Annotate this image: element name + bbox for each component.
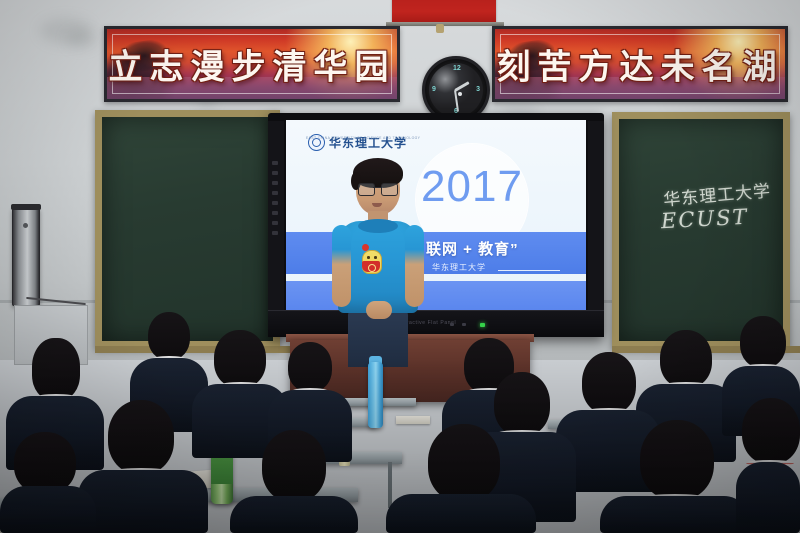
slide-headline: 联网 + 教育” [426, 238, 519, 259]
red-banner-top [392, 0, 496, 24]
student-head [742, 398, 800, 464]
screen-bezel-right [588, 121, 604, 311]
slide-year: 2017 [416, 162, 528, 212]
student-front-3 [228, 430, 358, 533]
student-head [32, 338, 80, 400]
student-uniform [386, 494, 536, 533]
screen-bezel-left [268, 121, 284, 311]
clock-numeral-9: 9 [432, 86, 436, 93]
interactive-whiteboard[interactable]: 华东理工大学 EAST CHINA UNIVERSITY OF SCIENCE … [268, 113, 604, 337]
glasses-icon [358, 183, 398, 194]
screen-power-button[interactable] [450, 323, 454, 326]
student-head [428, 424, 500, 502]
screen-bottom-bezel: Interactive Flat Panel [268, 310, 604, 337]
banner-left: 立志漫步清华园 [104, 26, 400, 102]
mascot-eye-left [367, 256, 370, 259]
student-front-5 [600, 420, 750, 533]
clock-face: 12 3 6 9 [429, 63, 483, 117]
banner-rod-knob [436, 24, 444, 33]
slide-divider [498, 270, 560, 271]
slide-subtitle: 华东理工大学 [432, 262, 486, 273]
glasses-lens-right [381, 183, 398, 196]
presenter-collar [358, 219, 398, 233]
banner-rod [386, 22, 504, 26]
presenter [330, 163, 426, 363]
student-uniform [230, 496, 358, 533]
paper-sheet [396, 416, 430, 424]
student-head [640, 420, 714, 500]
presenter-hands [366, 301, 392, 319]
chalkboard-right: 华东理工大学 ECUST [612, 112, 790, 348]
air-purifier-top [11, 204, 41, 210]
chalkboard-text-en: ECUST [660, 205, 749, 234]
clock-numeral-3: 3 [476, 86, 480, 93]
glasses-lens-left [358, 183, 375, 196]
student-head [660, 330, 712, 388]
presenter-arm-right [405, 225, 424, 307]
student-head [108, 400, 174, 474]
student-front-2 [0, 432, 96, 533]
student-uniform [78, 470, 208, 533]
presenter-arm-left [332, 225, 351, 307]
screen-menu-button[interactable] [462, 323, 466, 326]
screen-power-led [480, 323, 485, 327]
banner-right-text: 刻苦方达未名湖 [495, 40, 785, 89]
mascot-eye-right [374, 256, 377, 259]
student-head [214, 330, 266, 388]
blue-thermos [368, 362, 383, 428]
clock-numeral-12: 12 [453, 65, 461, 72]
student-head [740, 316, 786, 368]
student-head [148, 312, 190, 360]
university-logo-subtext: EAST CHINA UNIVERSITY OF SCIENCE AND TEC… [306, 136, 420, 140]
mascot-bib [362, 261, 380, 272]
air-purifier-indicator [23, 223, 28, 228]
screen-control-dots[interactable] [272, 161, 278, 241]
student-head [262, 430, 326, 502]
student-uniform [736, 462, 800, 533]
air-purifier [12, 208, 40, 306]
clock-hour-hand [454, 81, 469, 92]
banner-left-text: 立志漫步清华园 [107, 40, 397, 89]
student-head [288, 342, 332, 392]
student-uniform [0, 486, 96, 533]
student-uniform [600, 496, 750, 533]
chick-mascot-icon [360, 245, 382, 273]
clock-center-pin [458, 92, 462, 96]
student-head [14, 432, 76, 494]
student-front-4 [386, 424, 536, 533]
student-head [582, 352, 636, 414]
banner-right: 刻苦方达未名湖 [492, 26, 788, 102]
student-front-6 [736, 398, 800, 533]
classroom-photo-scene: 立志漫步清华园 刻苦方达未名湖 12 3 6 9 华东理工大学 ECUST [0, 0, 800, 533]
student-front-1 [78, 400, 208, 533]
